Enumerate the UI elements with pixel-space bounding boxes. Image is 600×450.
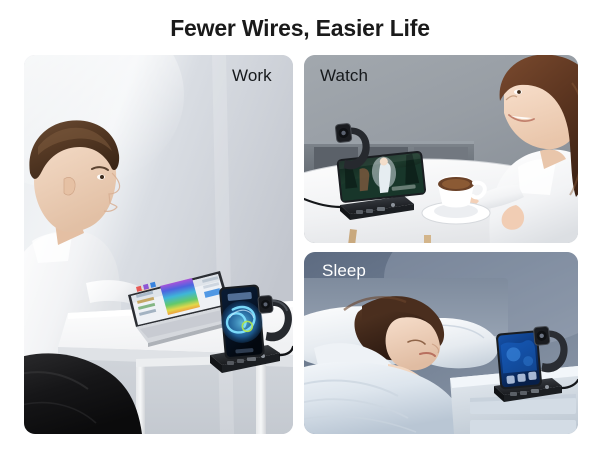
work-scene-illustration — [24, 55, 293, 434]
panel-watch — [304, 55, 578, 243]
panel-sleep — [304, 252, 578, 434]
panel-work — [24, 55, 293, 434]
watch-scene-illustration — [304, 55, 578, 243]
sleep-scene-illustration — [304, 252, 578, 434]
page-title: Fewer Wires, Easier Life — [0, 14, 600, 42]
